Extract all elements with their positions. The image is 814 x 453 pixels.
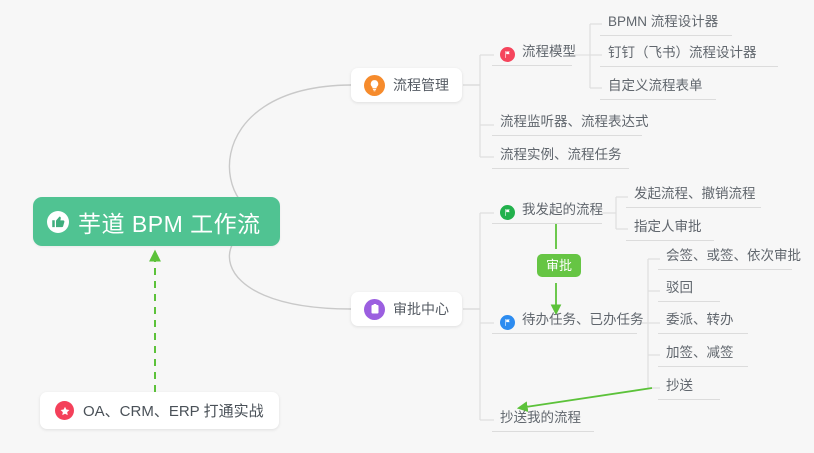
node-process-instance-task[interactable]: 流程实例、流程任务 — [492, 143, 629, 169]
thumbs-up-icon — [47, 211, 69, 233]
node-cc-to-me-process[interactable]: 抄送我的流程 — [492, 406, 594, 432]
flag-green-icon — [500, 205, 515, 220]
bottom-highlight-card[interactable]: OA、CRM、ERP 打通实战 — [40, 392, 279, 429]
node-start-cancel-process[interactable]: 发起流程、撤销流程 — [626, 182, 761, 208]
node-add-remove-sign[interactable]: 加签、减签 — [658, 341, 748, 367]
node-bpmn-designer-label: BPMN 流程设计器 — [608, 10, 718, 30]
node-process-model[interactable]: 流程模型 — [492, 40, 572, 66]
approve-badge-label: 审批 — [546, 258, 572, 273]
approve-badge: 审批 — [537, 254, 581, 277]
node-countersign-or-sequential[interactable]: 会签、或签、依次审批 — [658, 244, 792, 270]
bottom-highlight-card-label: OA、CRM、ERP 打通实战 — [83, 400, 264, 421]
node-process-listener-expression-label: 流程监听器、流程表达式 — [500, 110, 649, 130]
flag-blue-icon — [500, 315, 515, 330]
node-custom-process-form[interactable]: 自定义流程表单 — [600, 74, 716, 100]
node-countersign-or-sequential-label: 会签、或签、依次审批 — [666, 244, 801, 264]
node-cc[interactable]: 抄送 — [658, 374, 720, 400]
root-label: 芋道 BPM 工作流 — [78, 205, 261, 239]
flag-red-icon — [500, 47, 515, 62]
lightbulb-icon — [364, 75, 385, 96]
node-delegate-transfer-label: 委派、转办 — [666, 308, 734, 328]
node-process-model-label: 流程模型 — [522, 40, 576, 60]
node-process-listener-expression[interactable]: 流程监听器、流程表达式 — [492, 110, 642, 136]
node-reject[interactable]: 驳回 — [658, 276, 720, 302]
branch-process-management-label: 流程管理 — [393, 75, 449, 95]
node-dingtalk-feishu-designer-label: 钉钉（飞书）流程设计器 — [608, 41, 757, 61]
arrow-cc-to-cc-to-me — [519, 388, 652, 408]
node-delegate-transfer[interactable]: 委派、转办 — [658, 308, 748, 334]
node-custom-process-form-label: 自定义流程表单 — [608, 74, 703, 94]
node-cc-label: 抄送 — [666, 374, 693, 394]
branch-approval-center[interactable]: 审批中心 — [351, 292, 462, 326]
node-my-initiated-process[interactable]: 我发起的流程 — [492, 198, 602, 224]
branch-process-management[interactable]: 流程管理 — [351, 68, 462, 102]
node-assigned-approver[interactable]: 指定人审批 — [626, 215, 714, 241]
branch-approval-center-label: 审批中心 — [393, 299, 449, 319]
node-start-cancel-process-label: 发起流程、撤销流程 — [634, 182, 756, 202]
node-assigned-approver-label: 指定人审批 — [634, 215, 702, 235]
root-node[interactable]: 芋道 BPM 工作流 — [33, 197, 280, 246]
node-reject-label: 驳回 — [666, 276, 693, 296]
node-my-initiated-process-label: 我发起的流程 — [522, 198, 603, 218]
node-dingtalk-feishu-designer[interactable]: 钉钉（飞书）流程设计器 — [600, 41, 778, 67]
node-cc-to-me-process-label: 抄送我的流程 — [500, 406, 581, 426]
node-process-instance-task-label: 流程实例、流程任务 — [500, 143, 622, 163]
star-icon — [55, 401, 74, 420]
mindmap-canvas: 芋道 BPM 工作流 流程管理 流程模型 BPMN 流程设计器 钉钉（飞书）流程… — [0, 0, 814, 453]
clipboard-icon — [364, 299, 385, 320]
node-bpmn-designer[interactable]: BPMN 流程设计器 — [600, 10, 732, 36]
node-add-remove-sign-label: 加签、减签 — [666, 341, 734, 361]
node-todo-done-tasks[interactable]: 待办任务、已办任务 — [492, 308, 637, 334]
node-todo-done-tasks-label: 待办任务、已办任务 — [522, 308, 644, 328]
